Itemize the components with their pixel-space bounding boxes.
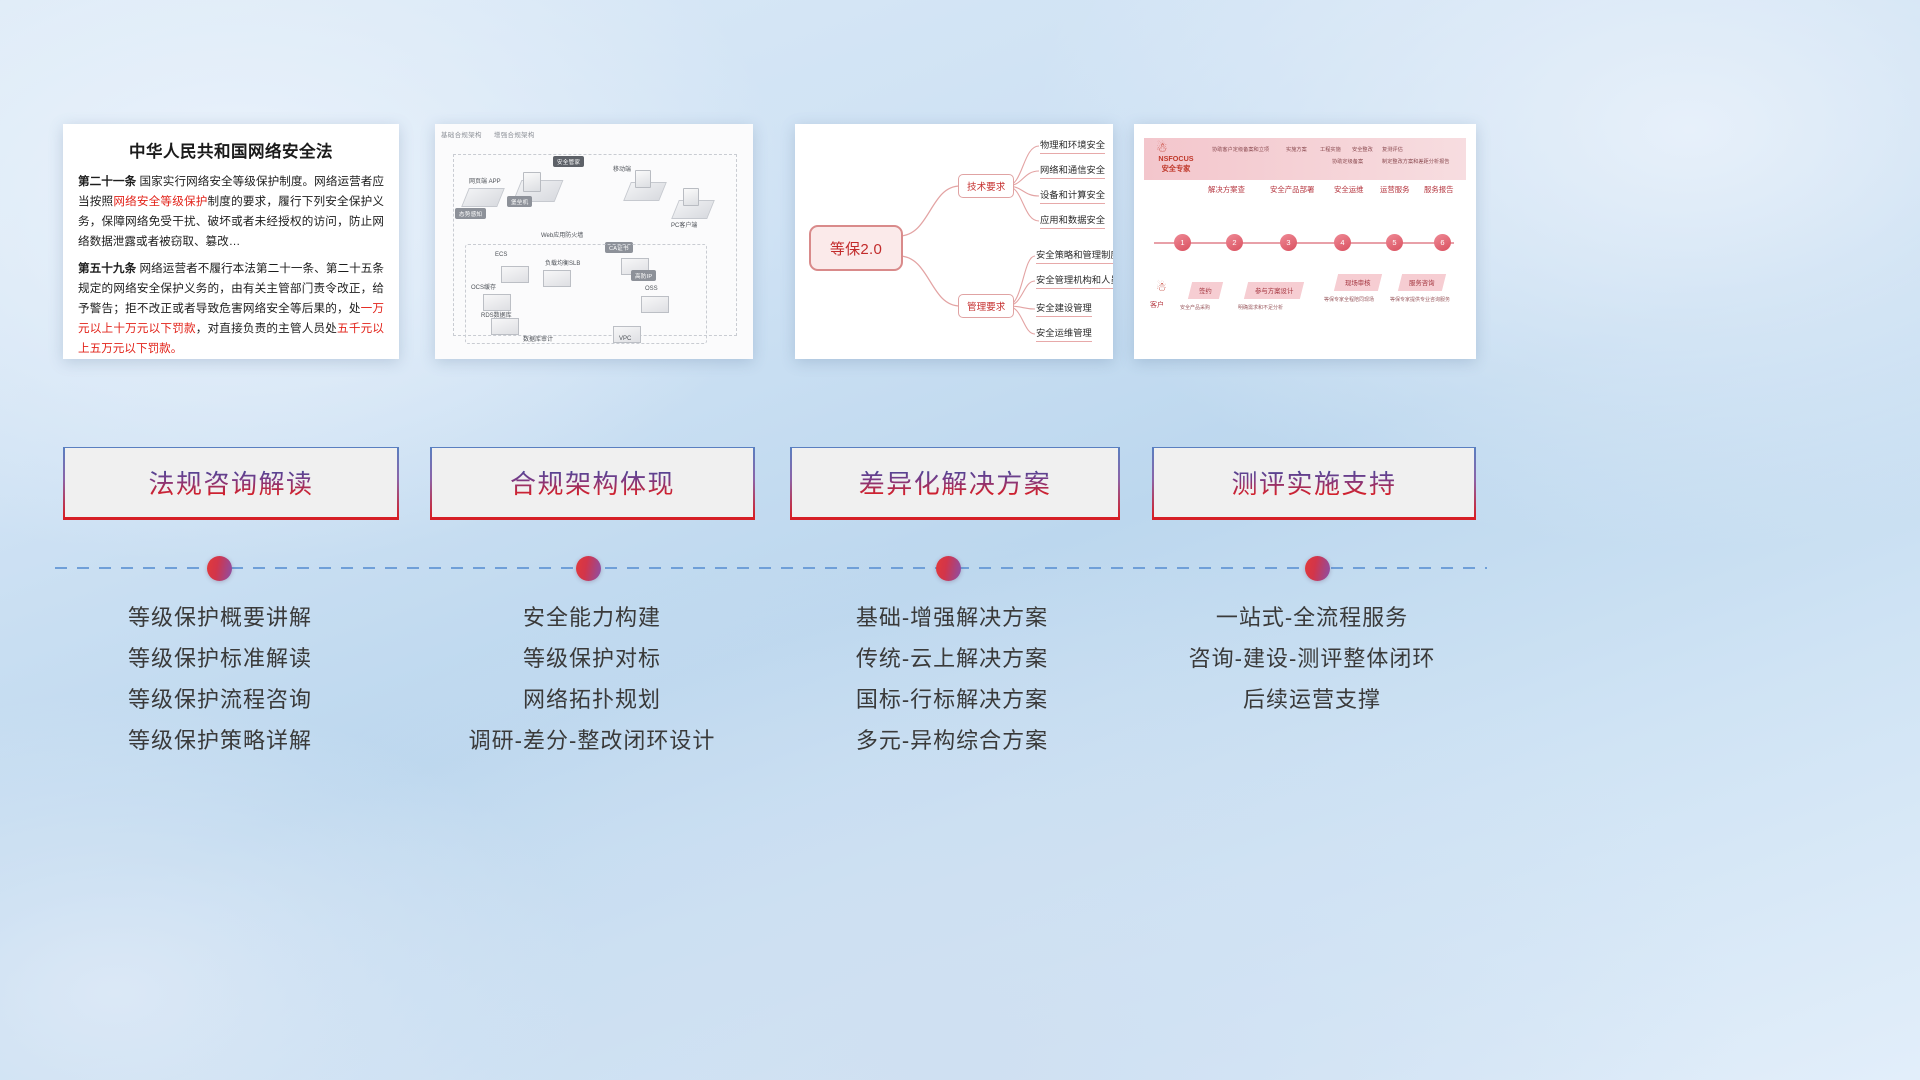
list-item: 一站式-全流程服务	[1132, 607, 1492, 629]
arch-node-mobile: 移动端	[613, 164, 631, 173]
title-box-compliance-architecture[interactable]: 合规架构体现	[430, 447, 755, 520]
left-block-1: 参与方案设计	[1244, 282, 1305, 299]
mindmap-branch-technical: 技术要求	[958, 174, 1014, 198]
list-item: 基础-增强解决方案	[772, 607, 1132, 629]
architecture-diagram: 基础合规架构 增强合规架构 安全管家 堡垒机 网页端 APP 态势感知 移动端	[435, 124, 753, 359]
banner-item-4: 复测评估	[1382, 146, 1403, 153]
arch-node-anquanguanjia: 安全管家	[553, 156, 584, 167]
arch-box-1	[523, 172, 541, 192]
thumbnail-row: 中华人民共和国网络安全法 第二十一条 国家实行网络安全等级保护制度。网络运营者应…	[0, 124, 1920, 362]
list-item: 网络拓扑规划	[412, 689, 772, 711]
timeline-step-2: 2	[1226, 234, 1243, 251]
right-block-0-title: 现场审核	[1345, 278, 1371, 287]
stage-label-3: 运营服务	[1380, 184, 1410, 195]
right-block-1: 服务咨询	[1398, 274, 1446, 291]
mindmap-diagram: 等保2.0 技术要求 管理要求 物理和环境安全 网络和通信安全 设备和计算安全 …	[795, 124, 1113, 359]
right-block-0-caption: 等保专家全程陪同现场	[1324, 296, 1374, 303]
article-59-label: 第五十九条	[78, 262, 136, 275]
list-item: 咨询-建设-测评整体闭环	[1132, 648, 1492, 670]
timeline-step-3: 3	[1280, 234, 1297, 251]
title-label-2: 差异化解决方案	[859, 464, 1052, 501]
customer-label: 客户	[1150, 300, 1164, 310]
brand-label: NSFOCUS 安全专家	[1150, 154, 1202, 173]
slide-canvas: 中华人民共和国网络安全法 第二十一条 国家实行网络安全等级保护制度。网络运营者应…	[0, 0, 1920, 1080]
timeline-dot-4	[1305, 556, 1330, 581]
arch-node-neiwang: 网页端 APP	[469, 176, 501, 185]
list-item: 等级保护概要讲解	[40, 607, 400, 629]
timeline-step-1: 1	[1174, 234, 1191, 251]
list-item: 等级保护流程咨询	[40, 689, 400, 711]
banner-item-0: 协助客户定级备案和立项	[1212, 146, 1269, 153]
timeline-step-4: 4	[1334, 234, 1351, 251]
arch-box-2	[635, 170, 651, 188]
banner-item-3: 安全整改	[1352, 146, 1373, 153]
title-label-0: 法规咨询解读	[148, 464, 313, 501]
timeline-dot-2	[576, 556, 601, 581]
thumbnail-law-document[interactable]: 中华人民共和国网络安全法 第二十一条 国家实行网络安全等级保护制度。网络运营者应…	[63, 124, 399, 359]
timeline-dot-1	[207, 556, 232, 581]
title-box-regulation-consulting[interactable]: 法规咨询解读	[63, 447, 399, 520]
brand-line-2: 安全专家	[1162, 164, 1191, 173]
list-item: 传统-云上解决方案	[772, 648, 1132, 670]
arch-node-waf: Web应用防火墙	[541, 230, 583, 239]
banner-item-6: 制定整改方案和差距分析报告	[1382, 158, 1449, 165]
left-block-0: 签约	[1188, 282, 1223, 299]
service-timeline-diagram: ☃ NSFOCUS 安全专家 协助客户定级备案和立项 实施方案 工程实施 安全整…	[1134, 124, 1476, 359]
stage-label-1: 安全产品部署	[1270, 184, 1314, 195]
right-block-1-caption: 等保专家提供专业咨询服务	[1390, 296, 1450, 303]
left-block-0-caption: 安全产品采购	[1180, 304, 1210, 311]
article-59-text-b: ，对直接负责的主管人员处	[196, 322, 337, 335]
mindmap-leaf-tech-4: 应用和数据安全	[1040, 212, 1105, 229]
article-21-label: 第二十一条	[78, 175, 136, 188]
arch-tab-basic: 基础合规架构	[441, 132, 482, 139]
detail-column-3: 基础-增强解决方案 传统-云上解决方案 国标-行标解决方案 多元-异构综合方案	[772, 607, 1132, 771]
law-article-59: 第五十九条 网络运营者不履行本法第二十一条、第二十五条规定的网络安全保护义务的，…	[78, 259, 384, 359]
article-21-highlight: 网络安全等级保护	[113, 195, 207, 208]
left-block-0-title: 签约	[1199, 286, 1212, 295]
arch-node-pc: PC客户端	[671, 220, 697, 229]
title-label-3: 测评实施支持	[1231, 464, 1396, 501]
list-item: 多元-异构综合方案	[772, 730, 1132, 752]
mindmap-root: 等保2.0	[809, 225, 903, 271]
title-box-assessment-support[interactable]: 测评实施支持	[1152, 447, 1476, 520]
list-item: 等级保护对标	[412, 648, 772, 670]
left-block-1-caption: 明确需求和不足分析	[1238, 304, 1283, 311]
timeline-step-6: 6	[1434, 234, 1451, 251]
list-item: 安全能力构建	[412, 607, 772, 629]
detail-column-4: 一站式-全流程服务 咨询-建设-测评整体闭环 后续运营支撑	[1132, 607, 1492, 730]
title-box-differentiated-solution[interactable]: 差异化解决方案	[790, 447, 1120, 520]
left-block-1-title: 参与方案设计	[1255, 286, 1293, 295]
timeline-axis	[1154, 242, 1454, 244]
stage-label-2: 安全运维	[1334, 184, 1364, 195]
detail-column-2: 安全能力构建 等级保护对标 网络拓扑规划 调研-差分-整改闭环设计	[412, 607, 772, 771]
banner-item-5: 协助定级备案	[1332, 158, 1363, 165]
arch-plate-2	[461, 188, 505, 207]
mindmap-leaf-mgmt-1: 安全策略和管理制度	[1036, 247, 1113, 264]
mindmap-leaf-tech-1: 物理和环境安全	[1040, 137, 1105, 154]
right-block-1-title: 服务咨询	[1409, 278, 1435, 287]
arch-box-3	[683, 188, 699, 206]
arch-zone-outline-2	[465, 244, 707, 344]
list-item: 等级保护策略详解	[40, 730, 400, 752]
thumbnail-service-timeline[interactable]: ☃ NSFOCUS 安全专家 协助客户定级备案和立项 实施方案 工程实施 安全整…	[1134, 124, 1476, 359]
mindmap-leaf-mgmt-3: 安全建设管理	[1036, 300, 1092, 317]
banner-item-1: 实施方案	[1286, 146, 1307, 153]
timeline-dashed-line	[55, 567, 1487, 569]
detail-column-1: 等级保护概要讲解 等级保护标准解读 等级保护流程咨询 等级保护策略详解	[40, 607, 400, 771]
law-title: 中华人民共和国网络安全法	[78, 138, 384, 162]
thumbnail-mindmap[interactable]: 等保2.0 技术要求 管理要求 物理和环境安全 网络和通信安全 设备和计算安全 …	[795, 124, 1113, 359]
timeline-step-5: 5	[1386, 234, 1403, 251]
thumbnail-cloud-architecture[interactable]: 基础合规架构 增强合规架构 安全管家 堡垒机 网页端 APP 态势感知 移动端	[435, 124, 753, 359]
mindmap-leaf-mgmt-4: 安全运维管理	[1036, 325, 1092, 342]
law-article-21: 第二十一条 国家实行网络安全等级保护制度。网络运营者应当按照网络安全等级保护制度…	[78, 172, 384, 252]
list-item: 等级保护标准解读	[40, 648, 400, 670]
list-item: 后续运营支撑	[1132, 689, 1492, 711]
list-item: 调研-差分-整改闭环设计	[412, 730, 772, 752]
right-block-0: 现场审核	[1334, 274, 1382, 291]
arch-node-taishi: 态势感知	[455, 208, 486, 219]
arch-tab-enhanced: 增强合规架构	[494, 132, 535, 139]
mindmap-leaf-tech-2: 网络和通信安全	[1040, 162, 1105, 179]
stage-label-4: 服务报告	[1424, 184, 1454, 195]
title-box-row: 法规咨询解读 合规架构体现 差异化解决方案 测评实施支持	[0, 447, 1920, 522]
mindmap-leaf-tech-3: 设备和计算安全	[1040, 187, 1105, 204]
timeline-dot-3	[936, 556, 961, 581]
mindmap-branch-management: 管理要求	[958, 294, 1014, 318]
mindmap-leaf-mgmt-2: 安全管理机构和人员	[1036, 272, 1113, 289]
banner-item-2: 工程实施	[1320, 146, 1341, 153]
customer-avatar-icon: ☃	[1156, 280, 1167, 294]
arch-node-baolei: 堡垒机	[507, 196, 532, 207]
architecture-header-tabs: 基础合规架构 增强合规架构	[441, 129, 545, 139]
brand-line-1: NSFOCUS	[1158, 154, 1193, 163]
title-label-1: 合规架构体现	[510, 464, 675, 501]
stage-label-0: 解决方案查	[1208, 184, 1245, 195]
law-document: 中华人民共和国网络安全法 第二十一条 国家实行网络安全等级保护制度。网络运营者应…	[63, 124, 399, 359]
list-item: 国标-行标解决方案	[772, 689, 1132, 711]
